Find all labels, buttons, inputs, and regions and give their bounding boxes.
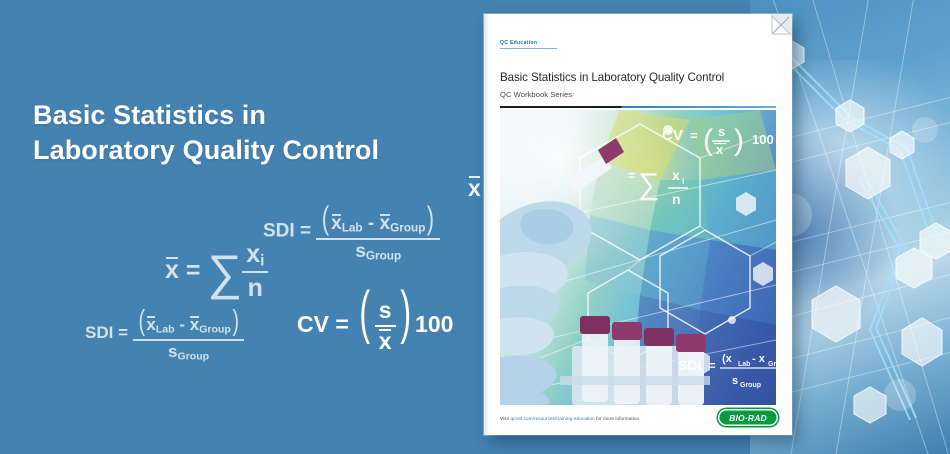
equals: =: [118, 323, 128, 342]
headline-line-2: Laboratory Quality Control: [33, 133, 379, 168]
footer-link[interactable]: qcnet.com/resources/training-education: [510, 416, 594, 421]
fraction: xin: [242, 240, 268, 303]
cv-label: CV: [297, 311, 329, 337]
svg-text:Group: Group: [740, 382, 761, 389]
svg-text:x: x: [672, 167, 680, 183]
svg-text:- x: - x: [752, 353, 766, 365]
svg-text:s: s: [718, 124, 725, 139]
close-paren: ): [400, 295, 411, 331]
svg-text:): ): [734, 124, 744, 157]
x-bar: x: [380, 213, 391, 235]
svg-text:i: i: [682, 176, 685, 186]
x-bar: x: [190, 315, 199, 335]
open-paren: (: [360, 295, 371, 331]
x-bar: x: [468, 175, 481, 202]
cover-photo-art: CV = s x ( ) 100 = ∑ x i n SDI =: [500, 110, 776, 405]
svg-text:x: x: [716, 142, 724, 157]
sigma-icon: ∑: [207, 258, 242, 288]
close-paren: ): [427, 200, 434, 237]
formula-partial-edge: x: [468, 175, 481, 202]
minus: -: [368, 213, 374, 234]
subscript-group: Group: [199, 323, 231, 335]
formula-sdi-lower: SDI = (xLab - xGroup) sGroup: [85, 305, 244, 362]
svg-text:=: =: [628, 168, 636, 183]
svg-text:CV: CV: [662, 127, 683, 144]
fraction: (xLab - xGroup) sGroup: [133, 305, 245, 362]
svg-text:Lab: Lab: [738, 361, 750, 368]
svg-text:Gr: Gr: [768, 361, 776, 368]
cover-subtitle: QC Workbook Series: [500, 90, 572, 99]
s-symbol: s: [168, 342, 177, 361]
fraction: (xLab - xGroup) sGroup: [316, 200, 440, 263]
sdi-label: SDI: [263, 221, 295, 242]
promo-banner: x = ∑xin CV = (sx) Basic Statistics in L…: [0, 0, 950, 454]
subscript-group: Group: [366, 250, 401, 263]
formula-sdi-upper: SDI = (xLab - xGroup) sGroup: [263, 200, 440, 263]
headline-line-1: Basic Statistics in: [33, 98, 379, 133]
svg-text:n: n: [672, 191, 681, 207]
page-curl-icon: [770, 14, 792, 36]
subscript-group: Group: [390, 222, 425, 235]
x-i: x: [246, 240, 260, 268]
x-bar: x: [165, 256, 179, 285]
fraction: sx: [375, 297, 396, 355]
close-paren: ): [232, 305, 239, 338]
book-cover[interactable]: QC Education Basic Statistics in Laborat…: [484, 14, 792, 435]
x-bar: x: [146, 315, 155, 335]
svg-text:(: (: [703, 124, 713, 157]
denominator-n: n: [242, 271, 268, 303]
subscript-lab: Lab: [342, 222, 363, 235]
equals: =: [186, 256, 201, 284]
subscript-group: Group: [178, 350, 210, 362]
page-title: Basic Statistics in Laboratory Quality C…: [33, 98, 379, 167]
svg-text:=: =: [690, 128, 698, 143]
book-spine: [484, 14, 489, 435]
numerator-s: s: [375, 297, 396, 325]
bio-rad-logo: BIO·RAD: [718, 409, 778, 426]
formula-cv: CV = (sx)100: [297, 295, 453, 355]
cover-rule: [500, 106, 776, 108]
s-symbol: s: [355, 241, 366, 262]
sdi-label: SDI: [85, 323, 113, 342]
footer-prefix: Visit: [500, 416, 510, 421]
x-bar: x: [331, 213, 342, 235]
svg-text:=: =: [708, 358, 716, 373]
cover-photo: CV = s x ( ) 100 = ∑ x i n SDI =: [500, 110, 776, 405]
x-bar: x: [379, 328, 392, 355]
subscript-lab: Lab: [156, 323, 175, 335]
minus: -: [179, 315, 185, 334]
cover-title: Basic Statistics in Laboratory Quality C…: [500, 71, 778, 85]
open-paren: (: [138, 305, 145, 338]
cover-footer: Visit qcnet.com/resources/training-educa…: [500, 416, 641, 421]
footer-suffix: for more information.: [595, 416, 641, 421]
multiplier-100: 100: [415, 311, 453, 337]
svg-text:100: 100: [752, 132, 774, 147]
svg-text:∑: ∑: [638, 168, 659, 201]
svg-text:(x: (x: [722, 353, 733, 365]
cover-eyebrow: QC Education: [500, 40, 557, 49]
formula-mean: x = ∑xin: [165, 240, 268, 303]
equals: =: [335, 311, 348, 337]
svg-text:s: s: [732, 375, 738, 387]
subscript-i: i: [260, 252, 264, 269]
svg-text:SDI: SDI: [678, 357, 701, 373]
equals: =: [300, 221, 311, 242]
open-paren: (: [322, 200, 329, 237]
